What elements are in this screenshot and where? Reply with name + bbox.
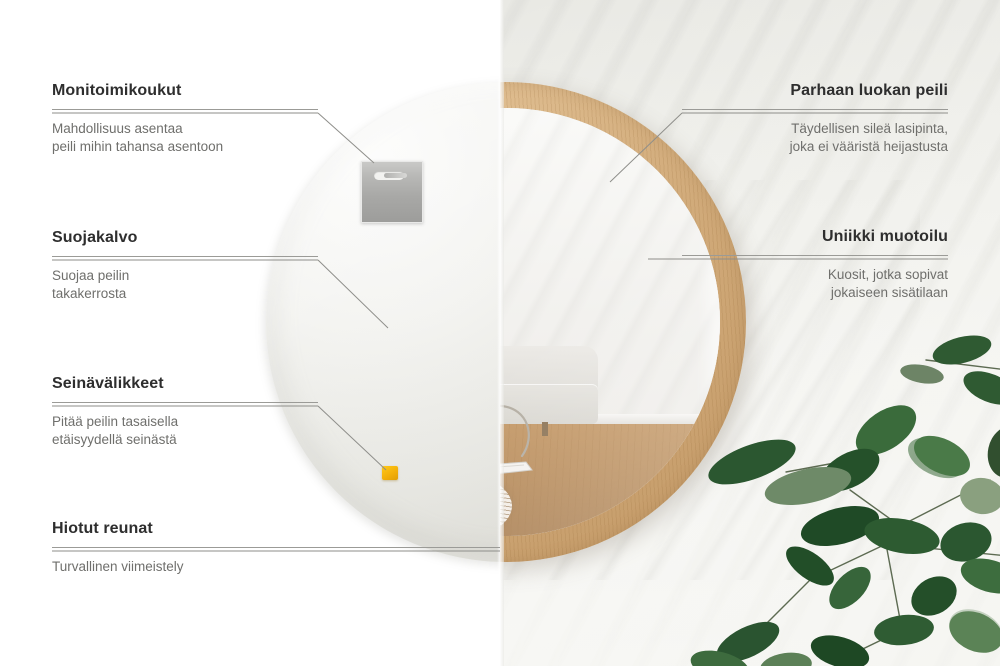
callout-title: Seinävälikkeet: [52, 375, 318, 393]
callout-title: Monitoimikoukut: [52, 82, 318, 100]
callout-body: Täydellisen sileä lasipinta, joka ei vää…: [682, 120, 948, 157]
callout-title: Uniikki muotoilu: [682, 228, 948, 246]
bracket-keyhole-inner: [384, 173, 407, 178]
callout-body: Pitää peilin tasaisella etäisyydellä sei…: [52, 413, 318, 450]
callout-hiotut-reunat: Hiotut reunat Turvallinen viimeistely: [52, 520, 500, 576]
callout-rule: [52, 109, 318, 110]
callout-rule: [682, 109, 948, 110]
callout-title: Parhaan luokan peili: [682, 82, 948, 100]
callout-seinavalikkeet: Seinävälikkeet Pitää peilin tasaisella e…: [52, 375, 318, 450]
callout-body: Turvallinen viimeistely: [52, 558, 500, 577]
callout-monitoimikoukut: Monitoimikoukut Mahdollisuus asentaa pei…: [52, 82, 318, 157]
callout-rule: [52, 402, 318, 403]
reflected-side-table: [500, 392, 560, 484]
mirror-glass-surface: [500, 108, 720, 536]
infographic-canvas: Monitoimikoukut Mahdollisuus asentaa pei…: [0, 0, 1000, 666]
yellow-wall-spacer: [382, 466, 398, 480]
plant-leaves-decoration: [690, 330, 1000, 666]
callout-body: Mahdollisuus asentaa peili mihin tahansa…: [52, 120, 318, 157]
callout-rule: [682, 255, 948, 256]
callout-uniikki-muotoilu: Uniikki muotoilu Kuosit, jotka sopivat j…: [682, 228, 948, 303]
callout-body: Kuosit, jotka sopivat jokaiseen sisätila…: [682, 266, 948, 303]
callout-rule: [52, 547, 500, 548]
callout-body: Suojaa peilin takakerrosta: [52, 267, 318, 304]
callout-title: Hiotut reunat: [52, 520, 500, 538]
callout-parhaan-luokan-peili: Parhaan luokan peili Täydellisen sileä l…: [682, 82, 948, 157]
callout-title: Suojakalvo: [52, 229, 318, 247]
callout-rule: [52, 256, 318, 257]
callout-suojakalvo: Suojakalvo Suojaa peilin takakerrosta: [52, 229, 318, 304]
